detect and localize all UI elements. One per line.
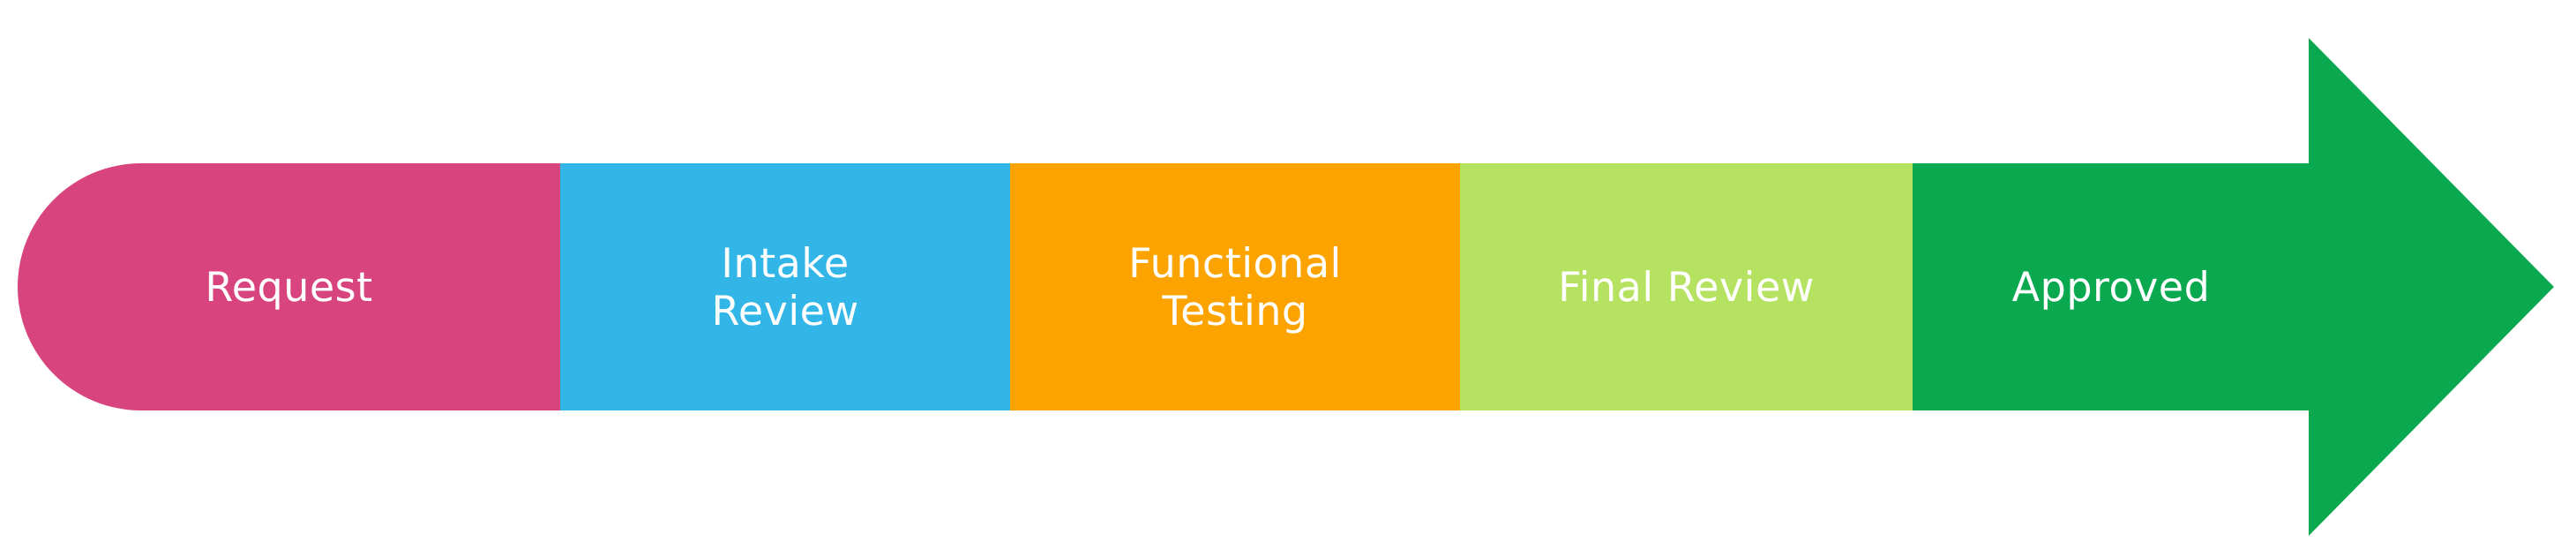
stage-shape-intake-review[interactable] bbox=[560, 163, 1010, 410]
process-arrow-shapes bbox=[0, 0, 2576, 557]
stage-shape-approved[interactable] bbox=[1913, 38, 2554, 536]
stage-shape-final-review[interactable] bbox=[1460, 163, 1913, 410]
stage-shape-request[interactable] bbox=[18, 163, 560, 410]
stage-shape-functional-testing[interactable] bbox=[1010, 163, 1460, 410]
process-arrow-diagram: Request Intake Review Functional Testing… bbox=[0, 0, 2576, 557]
